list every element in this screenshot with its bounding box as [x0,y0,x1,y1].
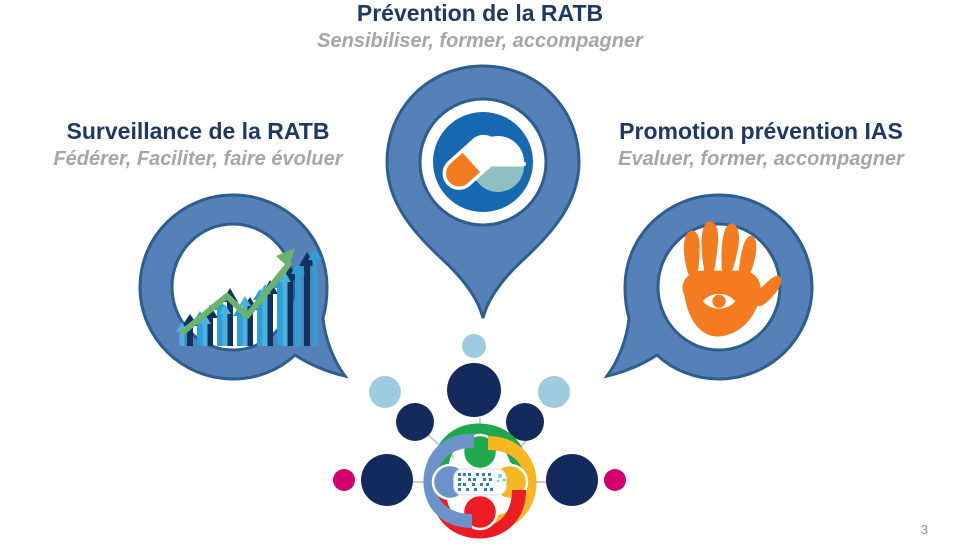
subtitle-surveillance: Fédérer, Faciliter, faire évoluer [8,147,388,171]
title-block-prevention: Prévention de la RATB Sensibiliser, form… [0,0,960,53]
node-lightblue-top [462,334,486,358]
node-lightblue-right [538,376,570,408]
title-promotion: Promotion prévention IAS [566,118,956,144]
node-magenta-right [604,469,626,491]
qr-pattern-badge [454,469,506,495]
title-surveillance: Surveillance de la RATB [8,118,388,144]
node-lightblue-left [369,376,401,408]
node-navy-right [546,454,598,506]
page-number: 3 [921,522,928,537]
teamwork-ring-icon [423,423,536,538]
pin-surveillance[interactable] [137,192,352,397]
title-prevention: Prévention de la RATB [0,0,960,26]
node-navy-upperleft [396,403,434,441]
node-navy-top [447,363,501,417]
subtitle-promotion: Evaluer, former, accompagner [566,147,956,171]
subtitle-prevention: Sensibiliser, former, accompagner [0,29,960,53]
pin-prevention[interactable] [383,62,583,322]
slide-canvas: Prévention de la RATB Sensibiliser, form… [0,0,960,555]
network-graphic [322,330,638,555]
title-block-promotion: Promotion prévention IAS Evaluer, former… [566,118,956,171]
node-magenta-left [333,469,355,491]
title-block-surveillance: Surveillance de la RATB Fédérer, Facilit… [8,118,388,171]
node-navy-left [361,454,413,506]
